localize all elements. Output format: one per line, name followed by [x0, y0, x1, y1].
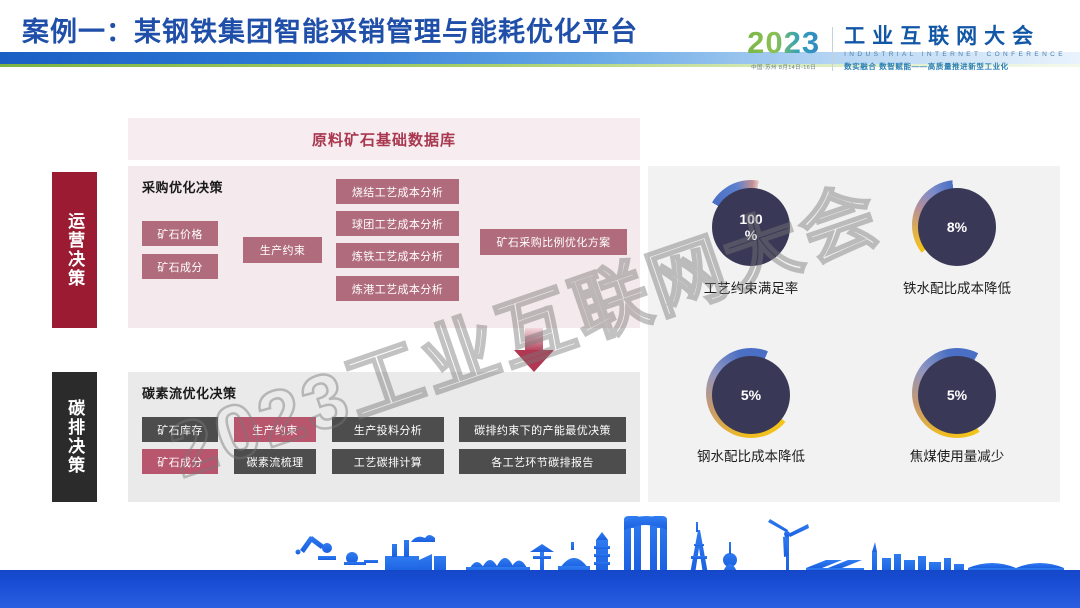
- chip-process-carbon-calc[interactable]: 工艺碳排计算: [332, 449, 444, 474]
- kpi-cell-0: 100% 工艺约束满足率: [648, 166, 854, 334]
- donut-hole-1: 8%: [918, 188, 996, 266]
- conference-logo: 2023 中国·苏州 8月14日-16日 工业互联网大会 INDUSTRIAL …: [747, 18, 1066, 80]
- logo-name-en: INDUSTRIAL INTERNET CONFERENCE: [844, 51, 1066, 58]
- kpi-value-0: 100%: [739, 211, 762, 243]
- database-banner-label: 原料矿石基础数据库: [312, 129, 456, 150]
- chip-ironmaking-cost[interactable]: 炼铁工艺成本分析: [336, 243, 459, 268]
- chip-feeding-analysis[interactable]: 生产投料分析: [332, 417, 444, 442]
- footer-skyline: [0, 512, 1080, 608]
- arrow-head: [514, 350, 554, 372]
- chip-carbon-flow-mapping[interactable]: 碳素流梳理: [234, 449, 316, 474]
- carbon-optimization-panel: 碳素流优化决策 矿石库存 生产约束 生产投料分析 碳排约束下的产能最优决策 矿石…: [128, 372, 640, 502]
- kpi-panel: 100% 工艺约束满足率 8% 铁水配比成本降低: [648, 166, 1060, 502]
- chip-steelmaking-cost[interactable]: 炼港工艺成本分析: [336, 276, 459, 301]
- chip-pellet-cost[interactable]: 球团工艺成本分析: [336, 211, 459, 236]
- kpi-value-3: 5%: [947, 387, 967, 403]
- logo-year-text: 2023: [747, 27, 820, 58]
- sidebar-item-operations: 运营决策: [52, 172, 97, 328]
- chip-ore-composition[interactable]: 矿石成分: [142, 254, 218, 279]
- logo-date-location: 中国·苏州 8月14日-16日: [751, 63, 816, 71]
- donut-hole-3: 5%: [918, 356, 996, 434]
- donut-hole-2: 5%: [712, 356, 790, 434]
- logo-tagline: 数实融合 数智赋能——高质量推进新型工业化: [844, 61, 1066, 72]
- logo-divider: [832, 27, 833, 71]
- chip-ore-inventory[interactable]: 矿石库存: [142, 417, 218, 442]
- kpi-cell-1: 8% 铁水配比成本降低: [854, 166, 1060, 334]
- kpi-label-3: 焦煤使用量减少: [910, 448, 1005, 466]
- purchase-optimization-panel: 采购优化决策 矿石价格 矿石成分 生产约束 烧结工艺成本分析 球团工艺成本分析 …: [128, 166, 640, 328]
- chip-carbon-production-constraint[interactable]: 生产约束: [234, 417, 316, 442]
- kpi-label-0: 工艺约束满足率: [704, 280, 799, 298]
- donut-chart-1: 8%: [912, 180, 1002, 270]
- chip-carbon-ore-composition[interactable]: 矿石成分: [142, 449, 218, 474]
- donut-chart-2: 5%: [706, 348, 796, 438]
- kpi-value-1: 8%: [947, 219, 967, 235]
- arrow-shaft: [525, 328, 543, 352]
- page-title: 案例一：某钢铁集团智能采销管理与能耗优化平台: [22, 10, 638, 49]
- kpi-label-2: 钢水配比成本降低: [697, 448, 805, 466]
- sidebar-item-carbon: 碳排决策: [52, 372, 97, 502]
- purchase-panel-heading: 采购优化决策: [142, 177, 223, 196]
- flow-arrow-down-icon: [514, 328, 554, 372]
- donut-chart-3: 5%: [912, 348, 1002, 438]
- chip-capacity-optimal-decision[interactable]: 碳排约束下的产能最优决策: [459, 417, 626, 442]
- logo-year-block: 2023 中国·苏州 8月14日-16日: [747, 27, 832, 71]
- chip-ore-price[interactable]: 矿石价格: [142, 221, 218, 246]
- database-banner: 原料矿石基础数据库: [128, 118, 640, 160]
- logo-name-block: 工业互联网大会 INDUSTRIAL INTERNET CONFERENCE 数…: [844, 26, 1066, 71]
- kpi-cell-3: 5% 焦煤使用量减少: [854, 334, 1060, 502]
- donut-hole-0: 100%: [712, 188, 790, 266]
- skyline-illustration-icon: [0, 512, 1080, 574]
- chip-sintering-cost[interactable]: 烧结工艺成本分析: [336, 179, 459, 204]
- chip-carbon-report[interactable]: 各工艺环节碳排报告: [459, 449, 626, 474]
- carbon-panel-heading: 碳素流优化决策: [142, 383, 237, 402]
- chip-production-constraint[interactable]: 生产约束: [243, 237, 322, 263]
- water-band: [0, 570, 1080, 608]
- sidebar-item-operations-label: 运营决策: [64, 212, 85, 288]
- slide: 案例一：某钢铁集团智能采销管理与能耗优化平台 2023 中国·苏州 8月14日-…: [0, 0, 1080, 608]
- content-area: 运营决策 碳排决策 原料矿石基础数据库 采购优化决策 矿石价格 矿石成分 生产约…: [0, 110, 1080, 510]
- kpi-value-2: 5%: [741, 387, 761, 403]
- logo-name-cn: 工业互联网大会: [844, 26, 1066, 48]
- kpi-label-1: 铁水配比成本降低: [903, 280, 1011, 298]
- kpi-cell-2: 5% 钢水配比成本降低: [648, 334, 854, 502]
- sidebar-item-carbon-label: 碳排决策: [64, 399, 85, 475]
- donut-chart-0: 100%: [706, 180, 796, 270]
- chip-purchase-ratio-plan[interactable]: 矿石采购比例优化方案: [480, 229, 627, 255]
